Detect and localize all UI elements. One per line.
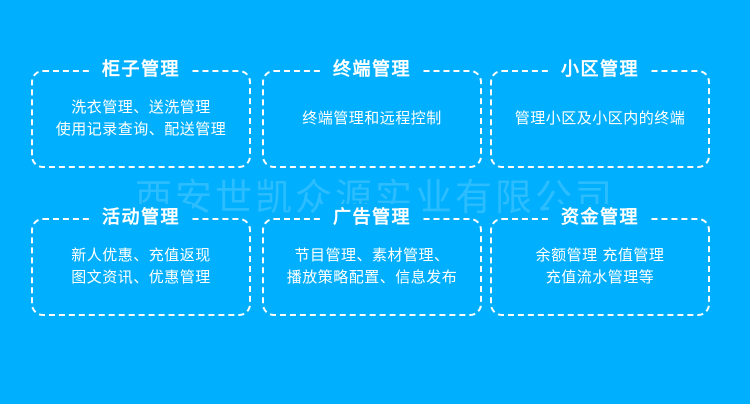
card-body: 终端管理和远程控制 [264,72,480,166]
card-body-line: 新人优惠、充值返现 [71,245,211,267]
card-body: 管理小区及小区内的终端 [492,72,708,166]
card-body: 余额管理 充值管理 充值流水管理等 [492,220,708,314]
card-title: 活动管理 [90,204,192,230]
card-title: 终端管理 [321,56,423,82]
card-body-line: 洗衣管理、送洗管理 [71,97,211,119]
feature-card-grid: 柜子管理 洗衣管理、送洗管理 使用记录查询、配送管理 终端管理 终端管理和远程控… [31,70,719,316]
card-body-line: 充值流水管理等 [546,267,655,289]
card-body-line: 使用记录查询、配送管理 [56,119,227,141]
card-title: 资金管理 [549,204,651,230]
card-body-line: 余额管理 充值管理 [536,245,665,267]
card-body-line: 管理小区及小区内的终端 [515,108,686,130]
feature-grid-poster: 西安世凯众源实业有限公司 柜子管理 洗衣管理、送洗管理 使用记录查询、配送管理 … [0,0,750,404]
feature-card-cabinet-management[interactable]: 柜子管理 洗衣管理、送洗管理 使用记录查询、配送管理 [31,70,251,168]
feature-card-community-management[interactable]: 小区管理 管理小区及小区内的终端 [490,70,710,168]
card-title: 广告管理 [321,204,423,230]
card-body-line: 播放策略配置、信息发布 [287,267,458,289]
feature-card-fund-management[interactable]: 资金管理 余额管理 充值管理 充值流水管理等 [490,218,710,316]
card-body: 新人优惠、充值返现 图文资讯、优惠管理 [33,220,249,314]
card-body: 节目管理、素材管理、 播放策略配置、信息发布 [264,220,480,314]
feature-card-terminal-management[interactable]: 终端管理 终端管理和远程控制 [262,70,482,168]
card-title: 小区管理 [549,56,651,82]
card-body: 洗衣管理、送洗管理 使用记录查询、配送管理 [33,72,249,166]
card-body-line: 图文资讯、优惠管理 [71,267,211,289]
card-body-line: 节目管理、素材管理、 [294,245,449,267]
card-body-line: 终端管理和远程控制 [302,108,442,130]
feature-card-advertising-management[interactable]: 广告管理 节目管理、素材管理、 播放策略配置、信息发布 [262,218,482,316]
card-title: 柜子管理 [90,56,192,82]
feature-card-activity-management[interactable]: 活动管理 新人优惠、充值返现 图文资讯、优惠管理 [31,218,251,316]
